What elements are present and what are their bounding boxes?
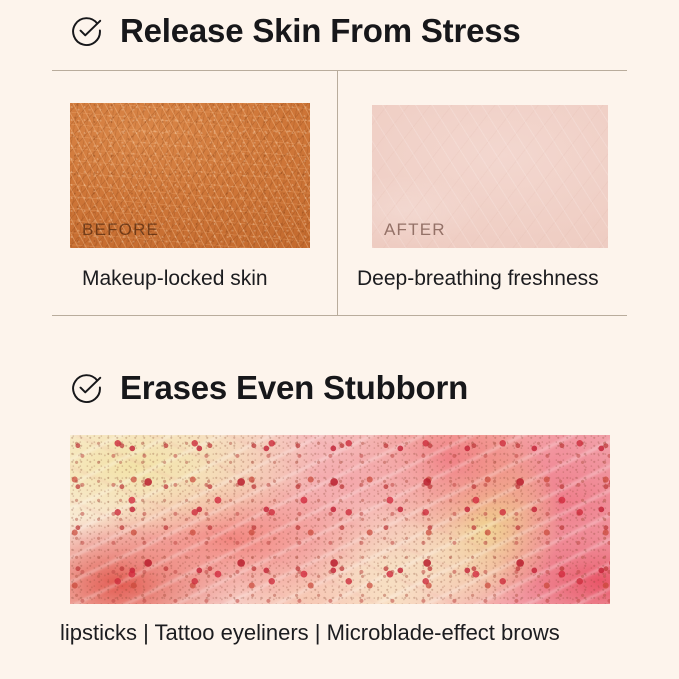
before-image: BEFORE — [70, 103, 310, 248]
marble-bubble-layer — [70, 435, 610, 604]
check-circle-icon — [70, 14, 103, 47]
before-caption: Makeup-locked skin — [82, 268, 268, 289]
after-caption: Deep-breathing freshness — [357, 268, 599, 289]
section-2-heading-row: Erases Even Stubborn — [70, 371, 468, 404]
divider-top — [52, 70, 627, 71]
check-circle-icon — [70, 371, 103, 404]
marble-texture-image — [70, 435, 610, 604]
product-feature-card: Release Skin From Stress BEFORE AFTER Ma… — [0, 0, 679, 679]
section-2-heading-text: Erases Even Stubborn — [120, 371, 468, 404]
divider-bottom — [52, 315, 627, 316]
divider-vertical — [337, 70, 338, 316]
section-1-heading-row: Release Skin From Stress — [70, 14, 521, 47]
before-badge: BEFORE — [82, 221, 159, 238]
section-1-heading-text: Release Skin From Stress — [120, 14, 521, 47]
after-badge: AFTER — [384, 221, 446, 238]
section-2-caption: lipsticks | Tattoo eyeliners | Microblad… — [60, 622, 560, 644]
after-image: AFTER — [372, 105, 608, 248]
